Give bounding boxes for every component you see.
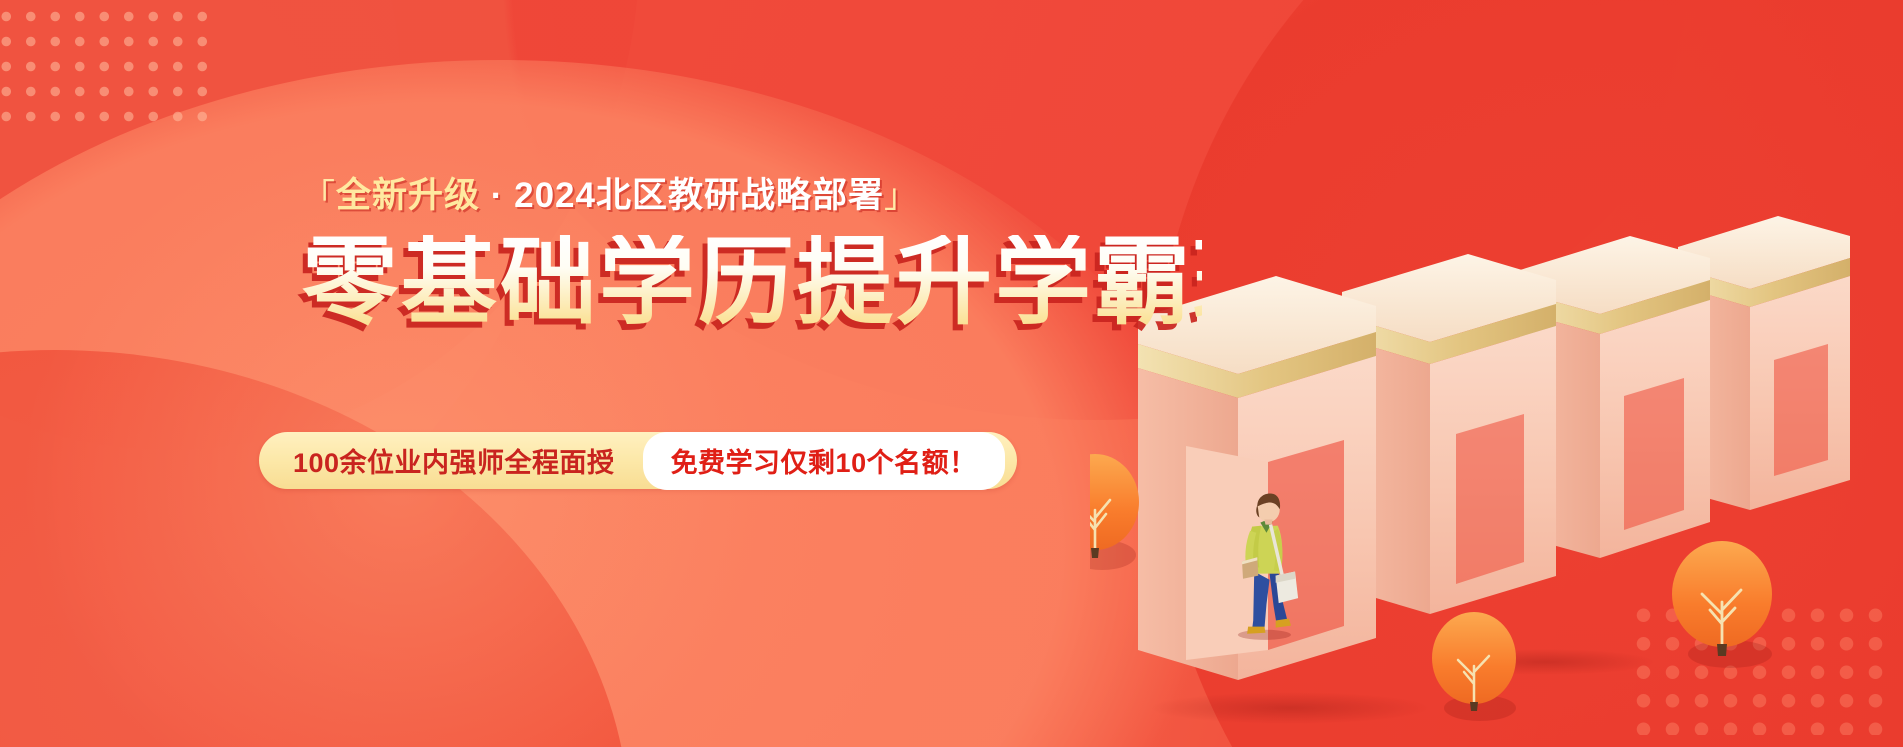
promo-banner: 「全新升级 · 2024北区教研战略部署」 零基础学历提升学霸班 100余位业内… xyxy=(0,0,1903,747)
bracket-close: 」 xyxy=(884,177,918,214)
page-title: 零基础学历提升学霸班 xyxy=(302,235,1202,331)
subtitle-highlight: 全新升级 xyxy=(336,176,480,215)
bracket-open: 「 xyxy=(302,177,336,214)
dot-grid-top-left-icon xyxy=(0,4,212,132)
tree-middle xyxy=(1432,612,1516,721)
promo-badge-right-label: 免费学习仅剩10个名额！ xyxy=(643,432,1005,490)
subtitle-rest: 2024北区教研战略部署 xyxy=(514,176,884,215)
tree-right xyxy=(1672,541,1772,668)
promo-badge[interactable]: 100余位业内强师全程面授 免费学习仅剩10个名额！ xyxy=(259,432,1017,489)
subtitle-separator: · xyxy=(480,176,514,215)
banner-subtitle: 「全新升级 · 2024北区教研战略部署」 xyxy=(302,178,1202,213)
tree-left xyxy=(1090,454,1139,570)
headline-block: 「全新升级 · 2024北区教研战略部署」 零基础学历提升学霸班 xyxy=(302,178,1202,331)
promo-badge-left-label: 100余位业内强师全程面授 xyxy=(259,441,641,480)
